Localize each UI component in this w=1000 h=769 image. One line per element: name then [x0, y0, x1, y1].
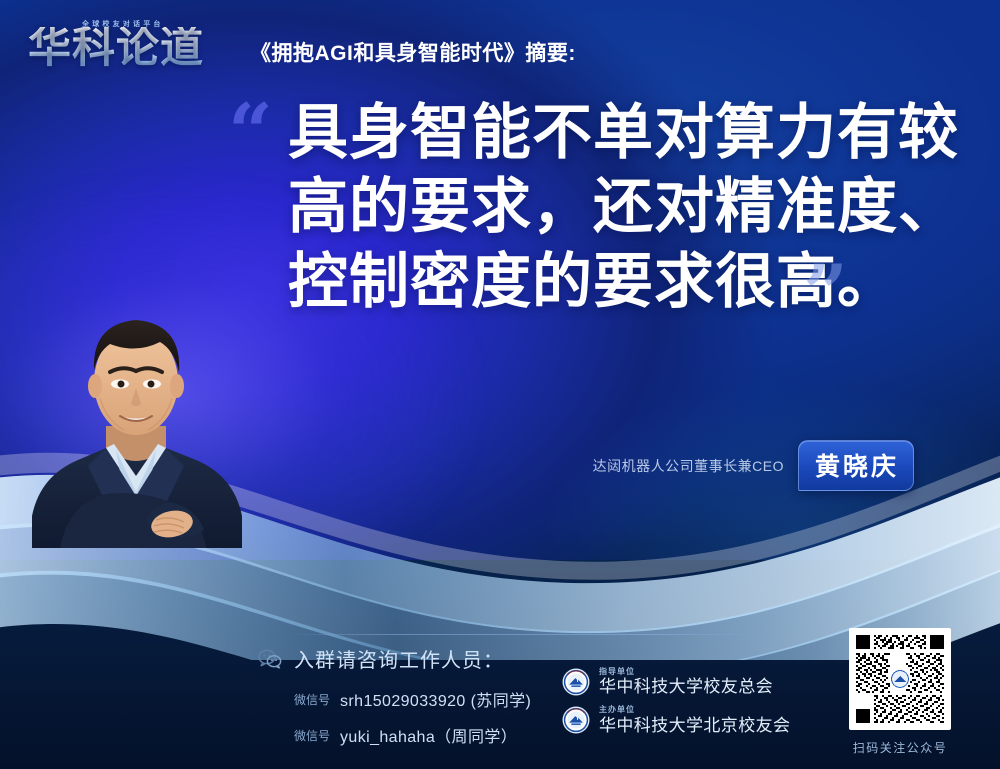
organization-name-2: 华中科技大学北京校友会 [599, 717, 790, 735]
speaker-name-badge: 黄晓庆 [798, 440, 914, 491]
qr-code[interactable] [849, 628, 951, 730]
footer-divider [288, 634, 760, 635]
header: 全球校友对话平台 华科论道 《拥抱AGI和具身智能时代》摘要: [0, 0, 1000, 92]
logo-wordmark: 华科论道 [28, 27, 204, 70]
organization-row-2: 主办单位 华中科技大学北京校友会 [562, 706, 790, 734]
wechat-id-2[interactable]: yuki_hahaha（周同学） [340, 723, 517, 747]
university-seal-icon [562, 668, 590, 696]
organizations-section: 指导单位 华中科技大学校友总会 主办单位 华中科技大学北京校友会 [562, 668, 790, 744]
wechat-label-1: 微信号 [294, 691, 330, 708]
quote-line-1: 具身智能不单对算力有较 [236, 96, 976, 170]
organization-name-1: 华中科技大学校友总会 [599, 678, 773, 696]
organization-kind-2: 主办单位 [599, 706, 790, 714]
wechat-label-2: 微信号 [294, 727, 330, 744]
quote-open-mark: “ [228, 102, 273, 164]
speaker-attribution: 达闼机器人公司董事长兼CEO 黄晓庆 [593, 440, 914, 491]
quote-close-mark: ” [803, 263, 848, 325]
qr-caption: 扫码关注公众号 [837, 739, 963, 756]
qr-section: 扫码关注公众号 [837, 628, 963, 756]
wechat-icon [258, 649, 282, 669]
university-seal-icon-2 [562, 706, 590, 734]
organization-kind-1: 指导单位 [599, 668, 773, 676]
organization-row-1: 指导单位 华中科技大学校友总会 [562, 668, 790, 696]
join-group-title: 入群请咨询工作人员： [294, 644, 504, 673]
quote-line-3: 控制密度的要求很高。 [236, 245, 976, 319]
quote-line-2: 高的要求，还对精准度、 [236, 170, 976, 244]
poster-root: 全球校友对话平台 华科论道 《拥抱AGI和具身智能时代》摘要: “ 具身智能不单… [0, 0, 1000, 769]
page-title: 《拥抱AGI和具身智能时代》摘要: [250, 25, 576, 67]
brand-logo[interactable]: 全球校友对话平台 华科论道 [28, 18, 224, 74]
speaker-portrait [20, 298, 252, 548]
speaker-title: 达闼机器人公司董事长兼CEO [593, 456, 784, 476]
quote-block: “ 具身智能不单对算力有较 高的要求，还对精准度、 控制密度的要求很高。 ” [236, 96, 976, 319]
wechat-id-1[interactable]: srh15029033920 (苏同学) [340, 687, 531, 711]
